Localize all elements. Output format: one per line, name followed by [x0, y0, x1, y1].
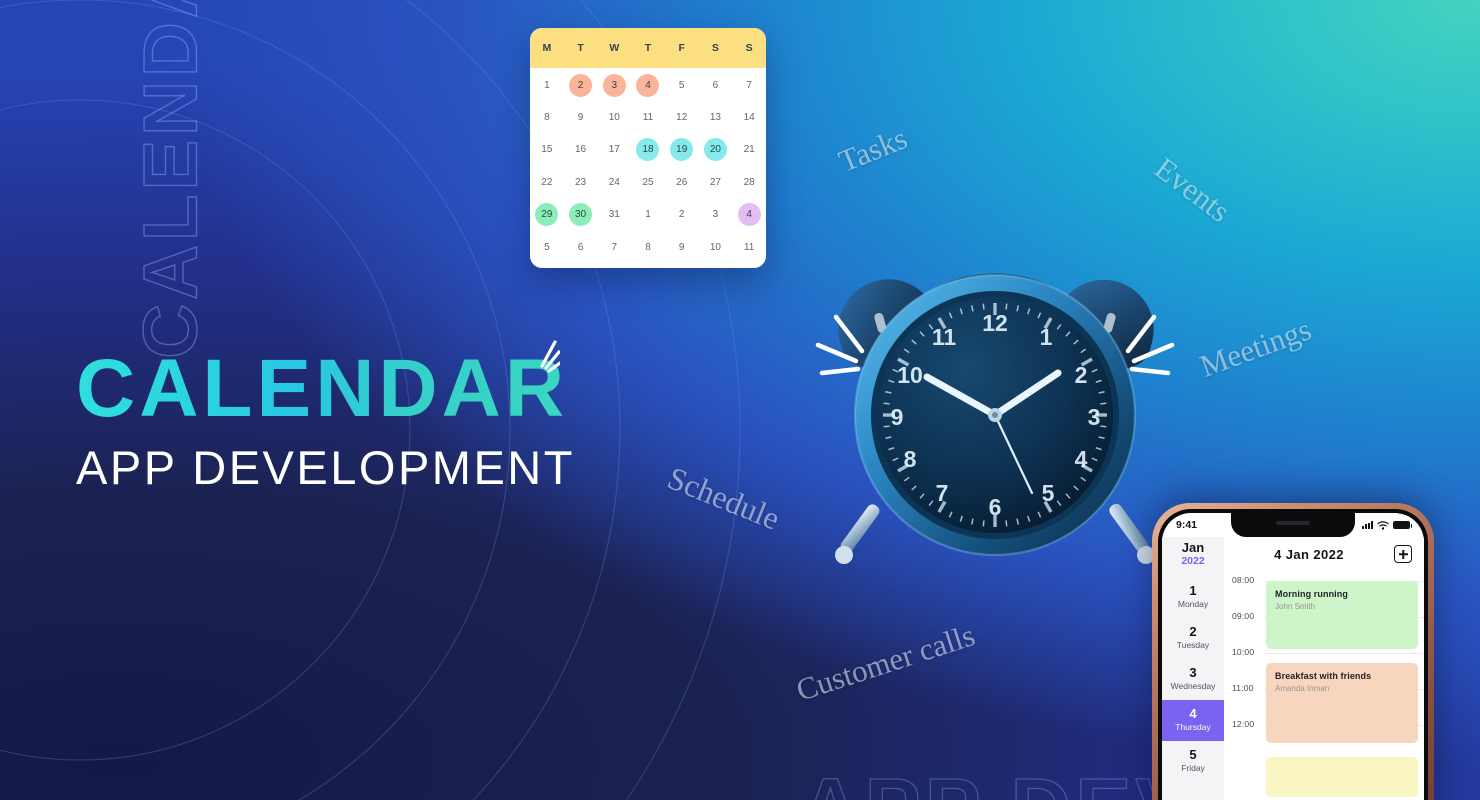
calendar-day-cell[interactable]: 21	[732, 134, 766, 166]
page-title: CALENDAR	[76, 348, 568, 430]
calendar-day-highlight: 3	[603, 74, 626, 97]
headline-block: CALENDAR APP DEVELOPMENT	[76, 348, 575, 491]
day-number: 1	[1162, 584, 1224, 599]
agenda-time-label: 12:00	[1232, 719, 1254, 729]
agenda-event-block[interactable]	[1266, 757, 1418, 797]
phone-bezel: 9:41 Jan	[1158, 509, 1428, 800]
poster-canvas: CALENDAR APP DEV Tasks Events Meetings S…	[0, 0, 1480, 800]
agenda-time-label: 11:00	[1232, 683, 1254, 693]
calendar-day-cell[interactable]: 10	[699, 231, 733, 263]
day-sidebar-item[interactable]: 1Monday	[1162, 577, 1224, 618]
calendar-day-cell[interactable]: 25	[631, 166, 665, 198]
calendar-day-cell[interactable]: 19	[665, 134, 699, 166]
calendar-day-cell[interactable]: 10	[597, 101, 631, 133]
calendar-day-cell[interactable]: 7	[732, 69, 766, 101]
outline-text-calendar-vertical: CALENDAR	[128, 0, 215, 359]
calendar-day-cell[interactable]: 11	[631, 101, 665, 133]
calendar-day-cell[interactable]: 5	[530, 231, 564, 263]
calendar-weekday-5: S	[699, 42, 733, 54]
svg-text:1: 1	[1040, 324, 1053, 350]
calendar-day-cell[interactable]: 7	[597, 231, 631, 263]
calendar-weekday-4: F	[665, 42, 699, 54]
calendar-day-highlight: 29	[535, 203, 558, 226]
calendar-day-highlight: 18	[636, 138, 659, 161]
agenda-pane[interactable]: 08:0009:0010:0011:0012:00Morning running…	[1224, 571, 1424, 800]
day-name: Wednesday	[1162, 681, 1224, 692]
day-sidebar-item[interactable]: 5Friday	[1162, 741, 1224, 782]
phone-screen: 9:41 Jan	[1162, 513, 1424, 800]
calendar-day-cell[interactable]: 8	[631, 231, 665, 263]
alarm-clock-illustration: 1212 345 678 91011	[800, 225, 1190, 585]
status-bar-icons	[1362, 521, 1410, 530]
calendar-day-highlight: 4	[636, 74, 659, 97]
calendar-day-cell[interactable]: 31	[597, 199, 631, 231]
calendar-day-cell[interactable]: 17	[597, 134, 631, 166]
calendar-day-cell[interactable]: 6	[564, 231, 598, 263]
calendar-weekday-0: M	[530, 42, 564, 54]
app-date-title: 4 Jan 2022	[1224, 547, 1394, 562]
agenda-event-block[interactable]: Breakfast with friendsAmanda Inman	[1266, 663, 1418, 743]
calendar-day-highlight: 4	[738, 203, 761, 226]
day-sidebar[interactable]: 1Monday2Tuesday3Wednesday4Thursday5Frida…	[1162, 571, 1224, 800]
battery-icon	[1393, 521, 1410, 529]
day-number: 5	[1162, 748, 1224, 763]
calendar-day-highlight: 19	[670, 138, 693, 161]
float-word-customer-calls: Customer calls	[792, 617, 979, 708]
calendar-day-cell[interactable]: 1	[530, 69, 564, 101]
calendar-day-cell[interactable]: 28	[732, 166, 766, 198]
page-subtitle: APP DEVELOPMENT	[76, 444, 575, 491]
calendar-day-cell[interactable]: 3	[597, 69, 631, 101]
calendar-card: MTWTFSS 12345678910111213141516171819202…	[530, 28, 766, 268]
calendar-day-cell[interactable]: 13	[699, 101, 733, 133]
calendar-day-cell[interactable]: 2	[665, 199, 699, 231]
calendar-day-cell[interactable]: 1	[631, 199, 665, 231]
agenda-time-label: 08:00	[1232, 575, 1254, 585]
outline-text-bottom: APP DEV	[800, 760, 1195, 800]
day-sidebar-item[interactable]: 3Wednesday	[1162, 659, 1224, 700]
app-year-label: 2022	[1162, 555, 1224, 568]
float-word-tasks: Tasks	[834, 120, 913, 180]
calendar-day-cell[interactable]: 5	[665, 69, 699, 101]
day-name: Monday	[1162, 599, 1224, 610]
add-event-button[interactable]	[1394, 545, 1412, 563]
app-header: Jan 2022 4 Jan 2022	[1162, 537, 1424, 571]
calendar-day-cell[interactable]: 6	[699, 69, 733, 101]
calendar-weekday-2: W	[597, 42, 631, 54]
agenda-event-block[interactable]: Morning runningJohn Smith	[1266, 581, 1418, 649]
calendar-day-cell[interactable]: 9	[564, 101, 598, 133]
calendar-day-cell[interactable]: 12	[665, 101, 699, 133]
app-body: 1Monday2Tuesday3Wednesday4Thursday5Frida…	[1162, 571, 1424, 800]
cellular-signal-icon	[1362, 521, 1373, 529]
phone-notch	[1231, 513, 1355, 537]
float-word-meetings: Meetings	[1195, 311, 1316, 384]
calendar-day-cell[interactable]: 14	[732, 101, 766, 133]
event-person: Amanda Inman	[1275, 684, 1409, 693]
day-name: Friday	[1162, 763, 1224, 774]
svg-text:6: 6	[989, 494, 1002, 520]
day-name: Thursday	[1162, 722, 1224, 733]
calendar-day-cell[interactable]: 29	[530, 199, 564, 231]
calendar-day-highlight: 2	[569, 74, 592, 97]
event-person: John Smith	[1275, 602, 1409, 611]
calendar-day-cell[interactable]: 30	[564, 199, 598, 231]
calendar-day-cell[interactable]: 27	[699, 166, 733, 198]
svg-text:3: 3	[1088, 404, 1101, 430]
svg-text:9: 9	[891, 404, 904, 430]
calendar-day-cell[interactable]: 24	[597, 166, 631, 198]
svg-text:12: 12	[982, 310, 1008, 336]
app-month-column: Jan 2022	[1162, 537, 1224, 571]
calendar-day-cell[interactable]: 15	[530, 134, 564, 166]
calendar-day-grid: 1234567891011121314151617181920212223242…	[530, 68, 766, 263]
float-word-events: Events	[1148, 150, 1237, 230]
event-title: Breakfast with friends	[1275, 671, 1409, 681]
day-number: 4	[1162, 707, 1224, 722]
app-month-label: Jan	[1162, 541, 1224, 555]
calendar-day-cell[interactable]: 11	[732, 231, 766, 263]
calendar-day-cell[interactable]: 4	[631, 69, 665, 101]
calendar-weekday-6: S	[732, 42, 766, 54]
calendar-day-cell[interactable]: 3	[699, 199, 733, 231]
calendar-day-cell[interactable]: 16	[564, 134, 598, 166]
calendar-weekday-1: T	[564, 42, 598, 54]
calendar-day-cell[interactable]: 23	[564, 166, 598, 198]
notch-speaker	[1276, 521, 1310, 525]
phone-mockup: 9:41 Jan	[1152, 503, 1434, 800]
day-name: Tuesday	[1162, 640, 1224, 651]
svg-text:7: 7	[936, 480, 949, 506]
wifi-icon	[1377, 521, 1389, 530]
agenda-time-label: 09:00	[1232, 611, 1254, 621]
day-number: 2	[1162, 625, 1224, 640]
day-sidebar-item[interactable]: 2Tuesday	[1162, 618, 1224, 659]
agenda-time-label: 10:00	[1232, 647, 1254, 657]
event-title: Morning running	[1275, 589, 1409, 599]
svg-text:4: 4	[1075, 446, 1088, 472]
svg-text:5: 5	[1042, 480, 1055, 506]
calendar-day-highlight: 20	[704, 138, 727, 161]
calendar-day-cell[interactable]: 26	[665, 166, 699, 198]
svg-text:8: 8	[904, 446, 917, 472]
calendar-day-cell[interactable]: 4	[732, 199, 766, 231]
svg-text:11: 11	[932, 324, 957, 350]
float-word-schedule: Schedule	[662, 459, 785, 537]
calendar-weekday-header: MTWTFSS	[530, 28, 766, 68]
calendar-day-cell[interactable]: 8	[530, 101, 564, 133]
phone-frame: 9:41 Jan	[1152, 503, 1434, 800]
calendar-day-cell[interactable]: 18	[631, 134, 665, 166]
svg-text:10: 10	[897, 362, 923, 388]
agenda-grid-line	[1264, 653, 1424, 654]
calendar-day-cell[interactable]: 22	[530, 166, 564, 198]
calendar-day-cell[interactable]: 9	[665, 231, 699, 263]
svg-text:2: 2	[1075, 362, 1088, 388]
calendar-day-highlight: 30	[569, 203, 592, 226]
calendar-weekday-3: T	[631, 42, 665, 54]
status-bar-time: 9:41	[1176, 519, 1197, 531]
day-number: 3	[1162, 666, 1224, 681]
calendar-day-cell[interactable]: 20	[699, 134, 733, 166]
calendar-day-cell[interactable]: 2	[564, 69, 598, 101]
day-sidebar-item[interactable]: 4Thursday	[1162, 700, 1224, 741]
